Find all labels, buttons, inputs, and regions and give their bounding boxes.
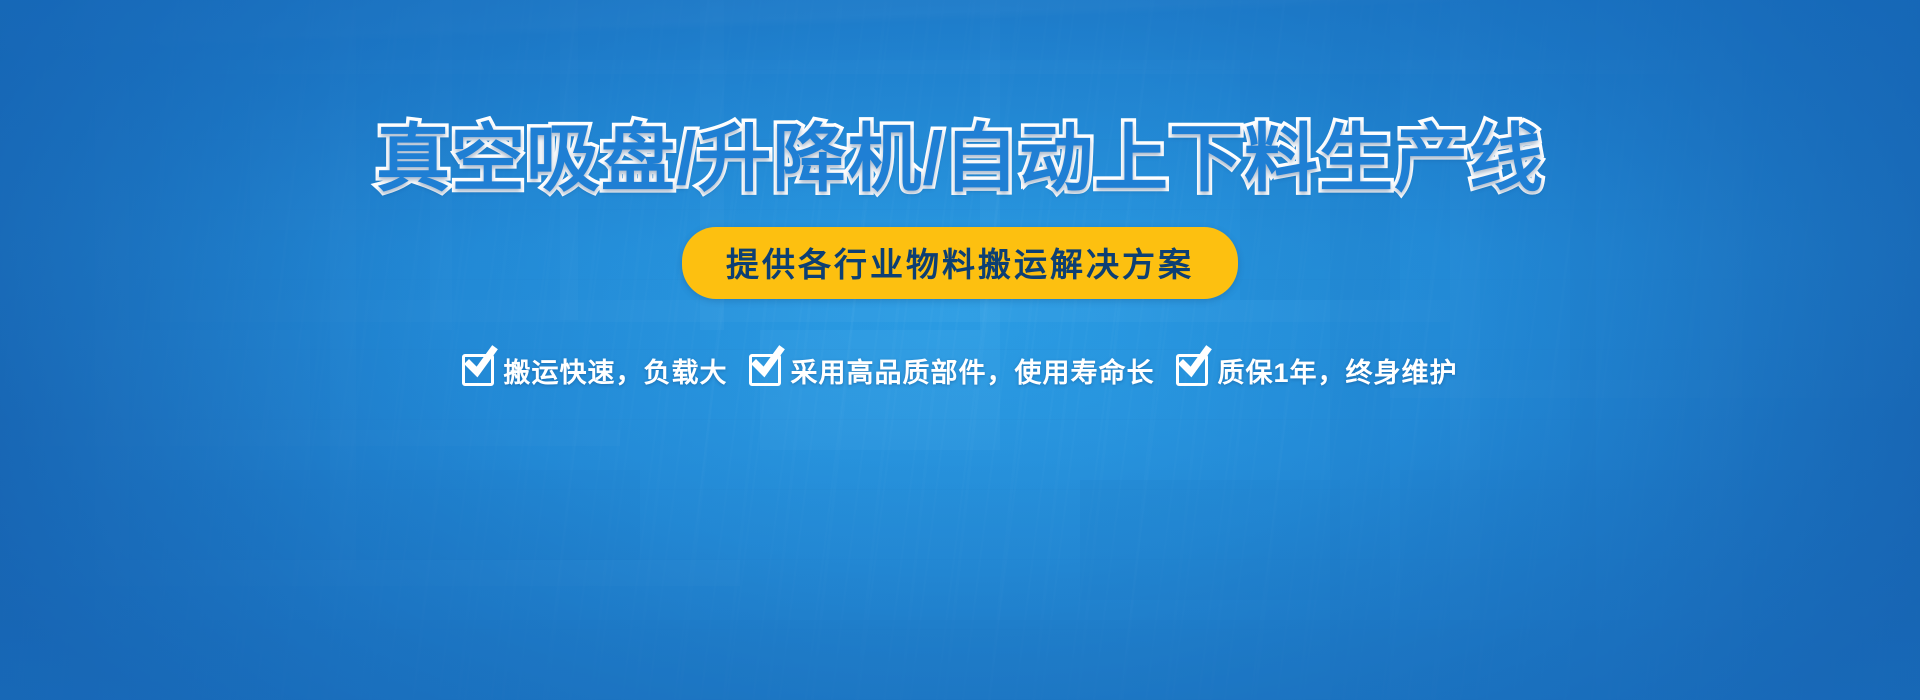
feature-label: 搬运快速，负载大	[503, 351, 727, 390]
feature-item: 质保1年，终身维护	[1176, 351, 1457, 390]
feature-item: 搬运快速，负载大	[462, 351, 727, 390]
hero-banner: 真空吸盘/升降机/自动上下料生产线 提供各行业物料搬运解决方案 搬运快速，负载大…	[0, 0, 1920, 700]
feature-label: 质保1年，终身维护	[1217, 351, 1457, 390]
feature-item: 采用高品质部件，使用寿命长	[749, 351, 1154, 390]
check-box-icon	[1176, 354, 1208, 386]
feature-list: 搬运快速，负载大 采用高品质部件，使用寿命长 质保1年，终身维护	[462, 351, 1457, 390]
feature-label: 采用高品质部件，使用寿命长	[790, 351, 1154, 390]
banner-headline: 真空吸盘/升降机/自动上下料生产线	[376, 118, 1544, 201]
banner-subtitle-pill: 提供各行业物料搬运解决方案	[682, 227, 1238, 299]
check-box-icon	[462, 354, 494, 386]
check-box-icon	[749, 354, 781, 386]
banner-content: 真空吸盘/升降机/自动上下料生产线 提供各行业物料搬运解决方案 搬运快速，负载大…	[0, 0, 1920, 700]
